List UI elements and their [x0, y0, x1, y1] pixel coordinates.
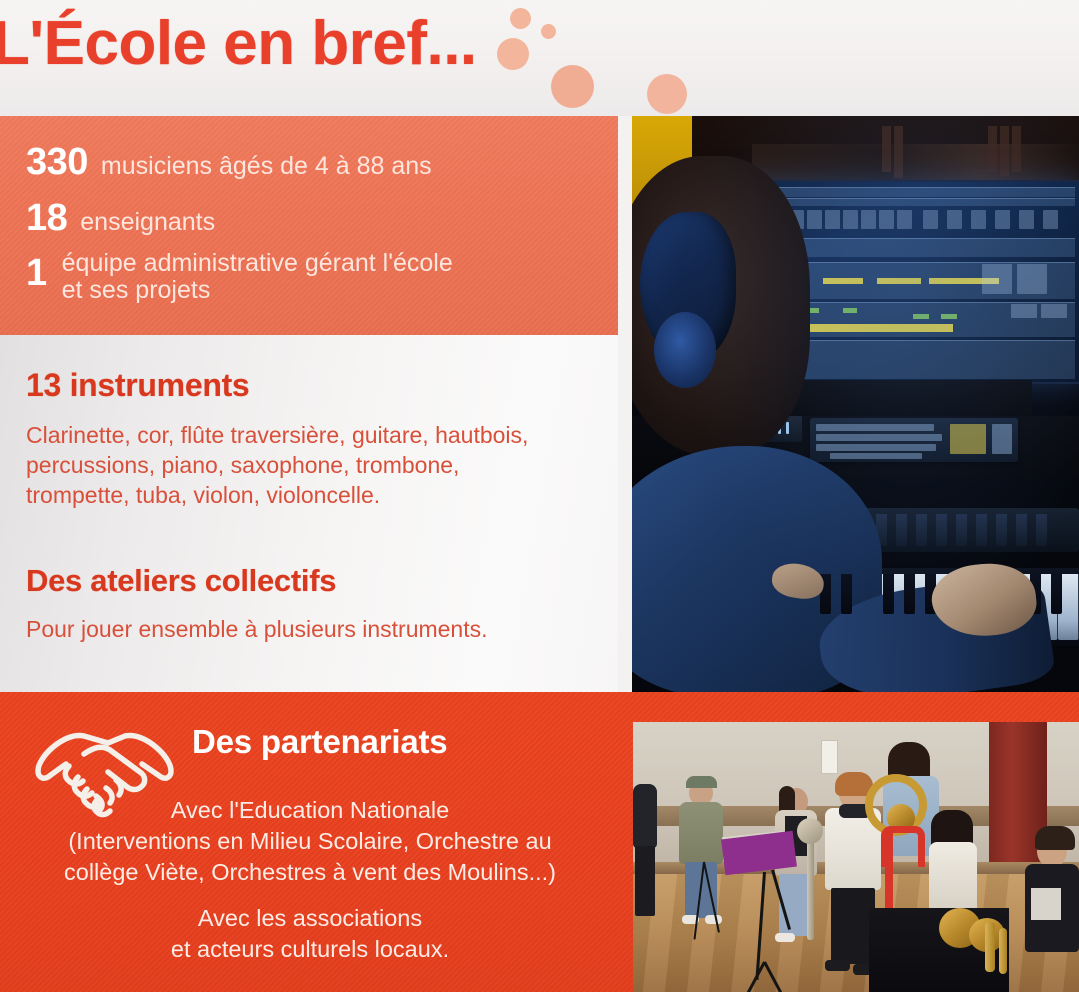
stat-item-musiciens: 330 musiciens âgés de 4 à 88 ans [26, 143, 432, 181]
decorative-dot [510, 8, 531, 29]
stat-item-equipe: 1 équipe administrative gérant l'école e… [26, 250, 453, 304]
stat-label: équipe administrative gérant l'école et … [62, 250, 453, 304]
photo-child [633, 784, 657, 848]
partenariats-associations: Avec les associations et acteurs culture… [0, 903, 620, 965]
stat-label: enseignants [80, 209, 215, 236]
photo-brass-tubing [999, 928, 1007, 974]
photo-shelf-item [1000, 126, 1009, 176]
page-title: L'École en bref... [0, 8, 477, 79]
photo-child-print [1031, 888, 1061, 920]
brochure-page: L'École en bref... 330 musiciens âgés de… [0, 0, 1079, 992]
photo-child-body [929, 842, 977, 912]
photo-shelf-item [882, 126, 891, 172]
stat-number: 18 [26, 199, 67, 237]
photo-brass-tubing [985, 922, 995, 972]
partenariats-heading: Des partenariats [192, 723, 447, 761]
decorative-dot [551, 65, 594, 108]
photo-wall-sign [821, 740, 838, 774]
photo-trombone-bell [797, 818, 823, 844]
photo-shoe [825, 960, 850, 971]
photo-shoe [705, 915, 722, 924]
instruments-list: Clarinette, cor, flûte traversière, guit… [26, 420, 606, 510]
ateliers-text: Pour jouer ensemble à plusieurs instrume… [26, 614, 606, 644]
ateliers-heading: Des ateliers collectifs [26, 563, 336, 599]
photo-child [635, 846, 655, 916]
photo-child-hair [1035, 826, 1075, 850]
photo-trombone-slide [881, 826, 925, 867]
photo-shelf-item [894, 126, 903, 178]
decorative-dot [541, 24, 556, 39]
stat-number: 1 [26, 250, 47, 298]
partenariats-education-nationale: Avec l'Education Nationale (Intervention… [0, 795, 620, 888]
photo-child-body [679, 802, 723, 864]
stat-label: musiciens âgés de 4 à 88 ans [101, 153, 432, 180]
stat-number: 330 [26, 143, 88, 181]
photo-shelf-item [1012, 126, 1021, 172]
title-band: L'École en bref... [0, 0, 1079, 116]
decorative-dot [647, 74, 687, 114]
photo-child-cap [686, 776, 717, 788]
photo-shoe [775, 933, 795, 942]
music-studio-photo [632, 116, 1079, 692]
instruments-heading: 13 instruments [26, 367, 249, 404]
stat-item-enseignants: 18 enseignants [26, 199, 215, 237]
decorative-dot [497, 38, 529, 70]
photo-shelf-item [988, 126, 997, 172]
children-rehearsal-photo [633, 722, 1079, 992]
photo-computer-keyboard [810, 418, 1018, 462]
photo-headphone-cup [654, 312, 716, 388]
